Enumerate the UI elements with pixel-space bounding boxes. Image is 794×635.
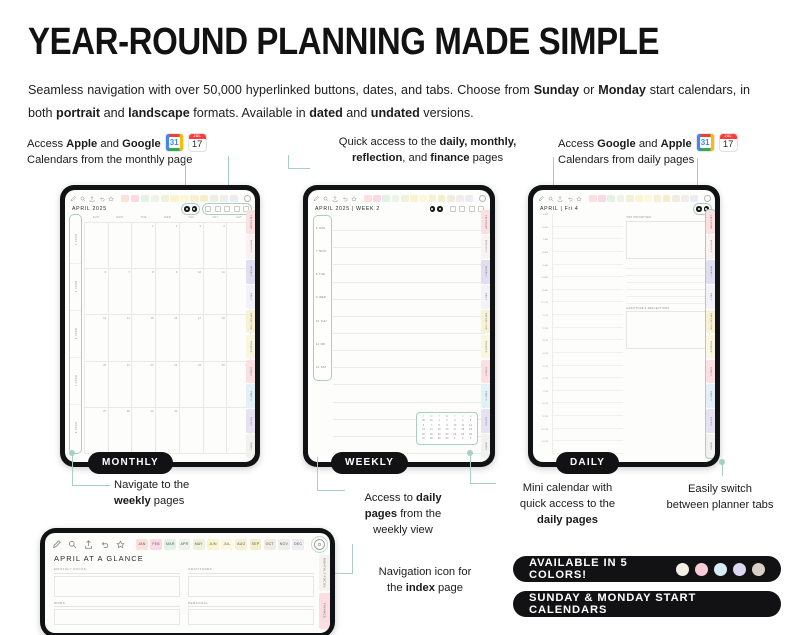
reflection-page-button[interactable] [469,206,475,212]
page-heading: APRIL | Fri 4 [540,206,579,212]
google-calendar-button[interactable] [184,206,190,212]
month-tab-oct[interactable] [210,195,218,202]
calendar-app-buttons[interactable] [184,206,197,212]
star-icon[interactable] [576,196,582,202]
label-weekly: WEEKLY [331,452,408,474]
time-label: 3 PM [538,340,549,353]
month-tab-aug[interactable] [429,195,437,202]
day-number: 10 [316,320,319,323]
callout-mini-calendar: Mini calendar with quick access to the d… [500,481,635,529]
month-tab-dec[interactable] [230,195,238,202]
month-calendar-grid[interactable]: SUN MON TUE WED THU FRI SAT 123456789101… [84,214,251,454]
day-cell[interactable]: 27 [85,408,109,454]
planner-side-tabs[interactable]: CALENDARMONTHLYWEEKLYDAILYREFLECTIONFINA… [481,210,490,458]
pen-icon[interactable] [313,196,319,202]
side-tab-finance[interactable]: FINANCE [246,335,255,359]
connector-line [288,168,310,169]
day-cell[interactable]: 10 [180,269,204,315]
side-tab-daily[interactable]: DAILY [246,285,255,309]
time-label: 7 AM [538,239,549,252]
month-tab-oct[interactable] [672,195,680,202]
index-nav-icon[interactable] [314,539,325,550]
finance-page-button[interactable] [234,206,240,212]
time-label: 11 PM [538,441,549,454]
callout-and: and [636,138,661,150]
google-calendar-button[interactable] [430,206,436,212]
day-number: 7 [316,250,318,253]
connector-line [352,544,353,574]
callout-google: Google [597,138,636,150]
month-tab-jul[interactable]: JUL [221,539,233,550]
planner-screen-weekly[interactable]: APRIL 2025 | WEEK 2 6SUN7MON8TUE9WED10TH… [308,190,490,462]
month-tab-nov[interactable] [681,195,689,202]
month-tab-feb[interactable] [373,195,381,202]
personal-block[interactable]: PERSONAL [188,601,314,626]
star-icon[interactable] [116,540,125,549]
tablet-monthly[interactable]: APRIL 2025 WEEK 1 WEEK 2 WEEK 3 WE [60,185,260,467]
color-swatch-3 [714,563,727,576]
connector-line [470,455,471,483]
month-tab-sep[interactable] [438,195,446,202]
month-tab-may[interactable] [401,195,409,202]
month-tab-may[interactable]: MAY [193,539,205,550]
pen-icon[interactable] [52,540,61,549]
mini-cal-day[interactable]: 2 [459,437,467,441]
planner-title-row: APRIL | Fri 4 [533,205,715,214]
month-tab-jul[interactable] [644,195,652,202]
side-tab-monthly[interactable]: MONTHLY [706,235,715,259]
index-nav-icon[interactable] [479,195,486,202]
planner-side-tabs[interactable]: CALENDARMONTHLYWEEKLYDAILYREFLECTIONFINA… [706,210,715,458]
side-tab-reflection[interactable]: REFLECTION [706,310,715,334]
side-tab-reflection[interactable]: REFLECTION [246,310,255,334]
planner-toolbar[interactable] [65,190,255,205]
day-cell[interactable] [180,408,204,454]
week-link[interactable]: WEEK 3 [70,311,81,358]
block-box[interactable] [188,576,314,597]
slot [553,416,623,429]
connector-line [470,483,496,484]
monthly-page-button[interactable] [459,206,465,212]
connector-dot [69,450,75,456]
line [626,297,710,304]
month-tab-apr[interactable] [392,195,400,202]
mini-cal-day[interactable]: 28 [427,437,435,441]
line [626,290,710,297]
callout-google: Google [122,138,161,150]
share-icon[interactable] [557,196,563,202]
block-box[interactable] [54,609,180,625]
day-link[interactable]: 11FRI [314,333,331,356]
day-cell[interactable]: 25 [204,362,228,408]
side-tab-index[interactable]: INDEX [706,434,715,458]
month-tab-nov[interactable] [220,195,228,202]
side-tab-habits[interactable]: HABITS [481,384,490,408]
monthly-focus-block[interactable]: MONTHLY FOCUS [54,567,180,597]
side-tab-index[interactable]: INDEX [246,434,255,458]
month-tab-apr[interactable] [151,195,159,202]
side-tab-calendar[interactable]: CALENDAR [481,210,490,234]
tool-icons-group[interactable] [538,196,582,202]
week-navigation-rail[interactable]: WEEK 1 WEEK 2 WEEK 3 WEEK 4 WEEK 5 [69,214,82,454]
day-link[interactable]: 7MON [314,240,331,263]
schedule-column[interactable] [552,214,623,454]
work-block[interactable]: WORK [54,601,180,626]
day-cell[interactable]: 9 [156,269,180,315]
planner-screen-monthly[interactable]: APRIL 2025 WEEK 1 WEEK 2 WEEK 3 WE [65,190,255,462]
planner-title-row: APRIL 2025 | WEEK 2 [308,205,490,214]
week-link[interactable]: WEEK 4 [70,358,81,405]
planner-toolbar[interactable] [308,190,490,205]
notes-column[interactable]: TOP PRIORITIES GRATITUDE & REFLECTIONS [626,214,710,454]
quick-access-buttons[interactable] [450,206,485,212]
reflection-page-button[interactable] [224,206,230,212]
undo-icon[interactable] [342,196,348,202]
day-cell[interactable]: 3 [180,223,204,269]
side-tab-weekly[interactable]: WEEKLY [481,260,490,284]
month-tab-aug[interactable]: AUG [235,539,247,550]
share-icon[interactable] [332,196,338,202]
week-link[interactable]: WEEK 1 [70,217,81,264]
side-tab-habits[interactable]: HABITS [246,384,255,408]
search-icon[interactable] [548,196,554,202]
block-label: MONTHLY FOCUS [54,567,180,574]
side-tab-monthly-focus[interactable]: MONTHLY FOCUS [319,555,330,591]
undo-icon[interactable] [100,540,109,549]
month-tab-jan[interactable] [121,195,129,202]
callout-line-1: Navigate to the [114,478,264,494]
day-link[interactable]: 9WED [314,286,331,309]
pen-icon[interactable] [538,196,544,202]
day-cell[interactable]: 2 [156,223,180,269]
dow-mon: MON [108,214,132,222]
day-cell[interactable]: 11 [204,269,228,315]
page-heading: APRIL 2025 | WEEK 2 [315,206,380,212]
month-tab-nov[interactable] [456,195,464,202]
side-tab-monthly[interactable]: MONTHLY [246,235,255,259]
callout-line-2: Calendars from the monthly page [27,153,257,169]
line [333,231,485,248]
slot [553,252,623,265]
connector-line [317,457,318,490]
time-label: 6 PM [538,378,549,391]
google-calendar-button[interactable] [696,206,702,212]
calendar-icons-group: 31 JUL17 [696,133,738,152]
day-cell[interactable]: 22 [132,362,156,408]
month-tab-dec[interactable] [690,195,698,202]
day-cell[interactable]: 24 [180,362,204,408]
month-tab-sep[interactable]: SEP [250,539,262,550]
callout-daily-calendars: Access Google and Apple 31 JUL17 Calenda… [558,133,788,169]
glance-blocks[interactable]: MONTHLY FOCUS GRATITUDES WORK PERSONAL [45,563,330,625]
callout-line-2: between planner tabs [645,498,794,514]
day-cell[interactable]: 1 [132,223,156,269]
side-tab-weekly[interactable]: WEEKLY [246,260,255,284]
daily-page-button[interactable] [450,206,456,212]
side-tab-finance[interactable]: FINANCE [319,593,330,629]
side-tab-finance[interactable]: FINANCE [481,335,490,359]
day-cell[interactable]: 29 [132,408,156,454]
tool-icons-group[interactable] [52,540,125,549]
side-tab-finance[interactable]: FINANCE [706,335,715,359]
mini-calendar[interactable]: SMTWTFS303112345678910111213141516171819… [416,412,478,445]
month-tab-aug[interactable] [654,195,662,202]
day-link[interactable]: 12SAT [314,356,331,379]
month-tab-apr[interactable] [617,195,625,202]
mini-cal-day[interactable]: 30 [443,437,451,441]
line [626,269,710,276]
page-subtitle: Seamless navigation with over 50,000 hyp… [28,79,750,126]
planner-toolbar[interactable] [533,190,715,205]
side-tab-calendar[interactable]: CALENDAR [706,210,715,234]
label-daily: DAILY [556,452,619,474]
callout-line-2: quick access to the [500,497,635,513]
tool-icons-group[interactable] [313,196,357,202]
day-cell[interactable]: 15 [132,315,156,361]
undo-icon[interactable] [567,196,573,202]
subtitle-or: or [579,83,598,97]
side-tab-notes[interactable]: NOTES [481,409,490,433]
priorities-box[interactable] [626,221,710,259]
month-tab-mar[interactable] [607,195,615,202]
google-calendar-icon: 31 [165,133,184,152]
mini-cal-row[interactable]: 27282930123 [420,437,475,441]
day-cell[interactable]: 28 [109,408,133,454]
share-icon[interactable] [84,540,93,549]
undo-icon[interactable] [99,196,105,202]
month-tab-jun[interactable] [635,195,643,202]
month-tab-jun[interactable] [410,195,418,202]
month-tab-mar[interactable]: MAR [164,539,176,550]
month-tab-jun[interactable]: JUN [207,539,219,550]
callout-line-3: daily pages [500,513,635,529]
mini-cal-day[interactable]: 3 [467,437,475,441]
star-icon[interactable] [108,196,114,202]
tablet-daily[interactable]: APRIL | Fri 4 5 AM6 AM7 AM8 AM9 AM10 AM1… [528,185,720,467]
side-tab-weekly[interactable]: WEEKLY [706,260,715,284]
month-day-cells[interactable]: 1234567891011121314151617181920212223242… [84,222,251,454]
day-cell[interactable] [204,408,228,454]
callout-apple: Apple [66,138,97,150]
month-tab-apr[interactable]: APR [179,539,191,550]
search-icon[interactable] [80,196,86,202]
day-link[interactable]: 8TUE [314,263,331,286]
time-label: 5 AM [538,214,549,227]
line [333,317,485,334]
month-tabs[interactable]: JANFEBMARAPRMAYJUNJULAUGSEPOCTNOVDEC [136,539,304,550]
connector-line [288,155,289,169]
pen-icon[interactable] [70,196,76,202]
subtitle-part-3: formats. Available in [190,106,309,120]
dow-sun: SUN [84,214,108,222]
day-of-week-header: SUN MON TUE WED THU FRI SAT [84,214,251,222]
index-nav-icon[interactable] [244,195,251,202]
day-link[interactable]: 6SUN [314,217,331,240]
planner-screen-daily[interactable]: APRIL | Fri 4 5 AM6 AM7 AM8 AM9 AM10 AM1… [533,190,715,462]
calendar-icons-group: 31 JUL17 [165,133,207,152]
day-navigation-rail[interactable]: 6SUN7MON8TUE9WED10THU11FRI12SAT [313,215,332,381]
subtitle-monday: Monday [598,83,646,97]
side-tab-goals[interactable]: GOALS [246,360,255,384]
planner-title-row: APRIL 2025 [65,205,255,214]
side-tab-reflection[interactable]: REFLECTION [481,310,490,334]
page-controls[interactable] [430,206,485,212]
month-tab-jan[interactable] [589,195,597,202]
block-box[interactable] [54,576,180,597]
dow-wed: WED [156,214,180,222]
section-label: TOP PRIORITIES [626,216,710,219]
callout-navigate-weekly: Navigate to the weekly pages [114,478,264,510]
tablet-landscape[interactable]: JANFEBMARAPRMAYJUNJULAUGSEPOCTNOVDEC APR… [40,528,335,635]
time-label: 7 PM [538,391,549,404]
day-cell[interactable]: 21 [109,362,133,408]
star-icon[interactable] [351,196,357,202]
side-tab-calendar[interactable]: CALENDAR [246,210,255,234]
page-heading: APRIL AT A GLANCE [45,552,330,563]
day-name: FRI [321,343,326,346]
reflection-block[interactable]: GRATITUDE & REFLECTIONS [626,307,710,350]
slot [553,429,623,442]
time-label: 6 AM [538,227,549,240]
top-priorities-block[interactable]: TOP PRIORITIES [626,216,710,259]
line [333,265,485,282]
day-link[interactable]: 10THU [314,310,331,333]
month-tab-feb[interactable] [598,195,606,202]
month-tab-mar[interactable] [382,195,390,202]
subtitle-landscape: landscape [128,106,190,120]
connector-line [335,573,353,574]
callout-line-1: Mini calendar with [500,481,635,497]
month-tab-jun[interactable] [170,195,178,202]
day-cell[interactable]: 20 [85,362,109,408]
month-tab-may[interactable] [626,195,634,202]
page-heading: APRIL 2025 [72,206,107,212]
month-tab-jul[interactable] [419,195,427,202]
month-tab-mar[interactable] [141,195,149,202]
week-link[interactable]: WEEK 2 [70,264,81,311]
gratitudes-block[interactable]: GRATITUDES [188,567,314,597]
tool-icons-group[interactable] [70,196,114,202]
day-cell[interactable]: 6 [85,269,109,315]
search-icon[interactable] [323,196,329,202]
slot [553,239,623,252]
planner-screen-landscape[interactable]: JANFEBMARAPRMAYJUNJULAUGSEPOCTNOVDEC APR… [45,533,330,633]
quick-access-buttons[interactable] [205,206,249,212]
day-cell[interactable]: 8 [132,269,156,315]
month-tab-oct[interactable]: OCT [264,539,276,550]
day-number: 9 [316,296,318,299]
side-tab-goals[interactable]: GOALS [481,360,490,384]
day-cell[interactable] [85,223,109,269]
mini-cal-day[interactable]: 27 [420,437,428,441]
search-icon[interactable] [68,540,77,549]
day-cell[interactable]: 4 [204,223,228,269]
daily-page-button[interactable] [205,206,211,212]
day-cell[interactable]: 23 [156,362,180,408]
time-label: 4 PM [538,353,549,366]
page-controls[interactable] [184,206,249,212]
mini-cal-day[interactable]: 29 [435,437,443,441]
day-name: SUN [319,227,325,230]
time-label: 9 AM [538,265,549,278]
slot [553,353,623,366]
apple-calendar-button[interactable] [192,206,198,212]
callout-line-2: Calendars from daily pages [558,153,788,169]
side-tab-habits[interactable]: HABITS [706,384,715,408]
month-tab-may[interactable] [161,195,169,202]
line [333,283,485,300]
month-tab-jul[interactable] [180,195,188,202]
side-tab-monthly[interactable]: MONTHLY [481,235,490,259]
planner-side-tabs[interactable]: CALENDARMONTHLYWEEKLYDAILYREFLECTIONFINA… [246,210,255,458]
side-tab-goals[interactable]: GOALS [706,360,715,384]
month-tab-sep[interactable] [663,195,671,202]
page-header: YEAR-ROUND PLANNING MADE SIMPLE Seamless… [0,0,794,125]
day-cell[interactable]: 17 [180,315,204,361]
month-tab-aug[interactable] [190,195,198,202]
side-tab-notes[interactable]: NOTES [706,409,715,433]
month-tabs[interactable] [589,195,698,202]
month-tab-jan[interactable]: JAN [136,539,148,550]
apple-calendar-button[interactable] [437,206,443,212]
time-label: 8 AM [538,252,549,265]
month-tab-jan[interactable] [364,195,372,202]
month-tab-feb[interactable]: FEB [150,539,162,550]
day-cell[interactable]: 7 [109,269,133,315]
slot [553,403,623,416]
subtitle-and-2: and [343,106,371,120]
index-nav-icon[interactable] [704,195,711,202]
month-tab-dec[interactable] [465,195,473,202]
day-cell[interactable]: 16 [156,315,180,361]
day-cell[interactable]: 30 [156,408,180,454]
callout-line-1: Navigation icon for [355,565,495,581]
month-tab-nov[interactable]: NOV [278,539,290,550]
month-tabs[interactable] [121,195,238,202]
side-tab-daily[interactable]: DAILY [481,285,490,309]
day-number: 8 [316,273,318,276]
side-tab-notes[interactable]: NOTES [246,409,255,433]
callout-line-1: Quick access to the daily, monthly, [310,135,545,151]
line [626,276,710,283]
month-tab-oct[interactable] [447,195,455,202]
side-tab-index[interactable]: INDEX [481,434,490,458]
calendar-app-buttons[interactable] [430,206,443,212]
block-box[interactable] [188,609,314,625]
reflection-box[interactable] [626,311,710,349]
line [333,214,485,231]
callout-switch-tabs: Easily switch between planner tabs [645,482,794,514]
day-cell[interactable] [109,223,133,269]
tablet-weekly[interactable]: APRIL 2025 | WEEK 2 6SUN7MON8TUE9WED10TH… [303,185,495,467]
mini-cal-day[interactable]: 1 [451,437,459,441]
week-link[interactable]: WEEK 5 [70,405,81,451]
planner-toolbar[interactable]: JANFEBMARAPRMAYJUNJULAUGSEPOCTNOVDEC [45,533,330,552]
day-cell[interactable]: 13 [85,315,109,361]
share-icon[interactable] [89,196,95,202]
notes-lines[interactable] [626,262,710,304]
planner-side-tabs[interactable]: MONTHLY FOCUSFINANCE [319,555,330,629]
side-tab-daily[interactable]: DAILY [706,285,715,309]
month-tab-dec[interactable]: DEC [292,539,304,550]
month-tabs[interactable] [364,195,473,202]
day-cell[interactable]: 14 [109,315,133,361]
month-tab-sep[interactable] [200,195,208,202]
day-cell[interactable]: 18 [204,315,228,361]
month-tab-feb[interactable] [131,195,139,202]
connector-line [317,490,345,491]
monthly-page-button[interactable] [215,206,221,212]
